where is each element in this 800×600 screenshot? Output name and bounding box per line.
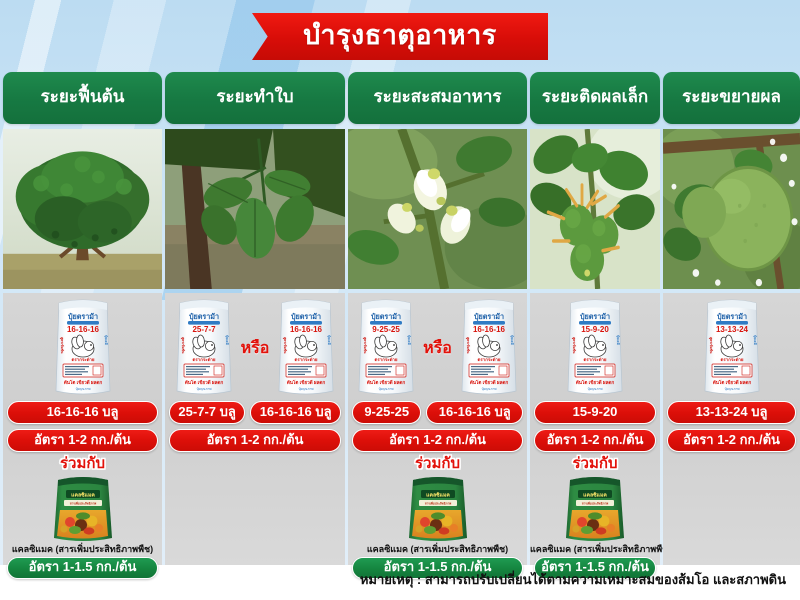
svg-text:ตรากระต่าย: ตรากระต่าย — [375, 357, 398, 362]
svg-text:ต้นโต เขียวดี ผลดก: ต้นโต เขียวดี ผลดก — [63, 379, 102, 385]
application-rate-label: อัตรา 1-2 กก./ต้น — [207, 433, 304, 448]
pomelo-tree-photo — [3, 129, 162, 289]
svg-text:ต้นโต เขียวดี ผลดก: ต้นโต เขียวดี ผลดก — [367, 379, 406, 385]
fertilizer-bags-row: ปุ๋ยตราม้า 25-7-7 ตรากระต่าย ต้นโต เขียว… — [165, 297, 345, 401]
formula-pill-label: 9-25-25 — [364, 405, 409, 420]
svg-text:16-16-16: 16-16-16 — [290, 325, 323, 334]
stage-column-3: ระยะสะสมอาหาร — [348, 0, 527, 600]
svg-text:สารเพิ่มประสิทธิภาพ: สารเพิ่มประสิทธิภาพ — [582, 500, 609, 505]
mature-pomelo-fruit-photo — [663, 129, 800, 289]
application-rate-bar: อัตรา 1-2 กก./ต้น — [534, 429, 656, 452]
formula-pill[interactable]: 16-16-16 บลู — [7, 401, 158, 424]
svg-text:ปุ๋ยตราม้า: ปุ๋ยตราม้า — [580, 312, 610, 321]
fertilizer-bags-row: ปุ๋ยตราม้า 13-13-24 ตรากระต่าย ต้นโต เขี… — [663, 297, 800, 401]
application-rate-bar: อัตรา 1-2 กก./ต้น — [169, 429, 341, 452]
stage-column-5: ระยะขยายผล — [663, 0, 800, 600]
fertilizer-bag-9-25-25: ปุ๋ยตราม้า 9-25-25 ตรากระต่าย ต้นโต เขีย… — [355, 297, 417, 397]
svg-text:แคลซิแมค: แคลซิแมค — [71, 491, 95, 498]
svg-text:25-7-7: 25-7-7 — [192, 325, 216, 334]
fertilizer-bags-row: ปุ๋ยตราม้า 16-16-16 ตรากระต่าย ต้นโต เขี… — [3, 297, 162, 401]
formula-pill[interactable]: 16-16-16 บลู — [426, 401, 523, 424]
svg-text:ตรากระต่าย: ตรากระต่าย — [584, 357, 607, 362]
application-rate-bar: อัตรา 1-2 กก./ต้น — [352, 429, 523, 452]
formula-pill-label: 16-16-16 บลู — [439, 405, 511, 420]
rate-row: อัตรา 1-2 กก./ต้น — [352, 429, 523, 452]
fertilizer-bag-13-13-24: ปุ๋ยตราม้า 13-13-24 ตรากระต่าย ต้นโต เขี… — [701, 297, 763, 397]
application-rate-bar: อัตรา 1-2 กก./ต้น — [667, 429, 796, 452]
calcimag-bag: แคลซิแมค สารเพิ่มประสิทธิภาพ — [348, 472, 527, 544]
formula-pill[interactable]: 16-16-16 บลู — [250, 401, 341, 424]
svg-text:15-9-20: 15-9-20 — [581, 325, 609, 334]
svg-text:แคลซิแมค: แคลซิแมค — [426, 491, 450, 498]
fertilizer-bag-16-16-16: ปุ๋ยตราม้า 16-16-16 ตรากระต่าย ต้นโต เขี… — [275, 297, 337, 397]
application-rate-bar: อัตรา 1-2 กก./ต้น — [7, 429, 158, 452]
application-rate-label: อัตรา 1-2 กก./ต้น — [683, 433, 780, 448]
stage-tab-label: ระยะขยายผล — [682, 88, 781, 108]
product-panel-4: ปุ๋ยตราม้า 15-9-20 ตรากระต่าย ต้นโต เขีย… — [530, 293, 660, 565]
formula-pill[interactable]: 9-25-25 — [352, 401, 421, 424]
formula-pill-label: 25-7-7 บลู — [178, 405, 235, 420]
pomelo-flowers-photo — [348, 129, 527, 289]
svg-text:ปุ๋ยตราม้า: ปุ๋ยตราม้า — [716, 312, 746, 321]
formula-pill-row: 13-13-24 บลู — [667, 401, 796, 424]
svg-text:ต้นโต เขียวดี ผลดก: ต้นโต เขียวดี ผลดก — [184, 379, 223, 385]
rate-row: อัตรา 1-2 กก./ต้น — [534, 429, 656, 452]
combo-product-name: แคลซิแมค (สารเพิ่มประสิทธิภาพพืช) — [530, 545, 660, 555]
stage-tab-label: ระยะสะสมอาหาร — [373, 88, 501, 108]
product-panel-3: ปุ๋ยตราม้า 9-25-25 ตรากระต่าย ต้นโต เขีย… — [348, 293, 527, 565]
stage-tab-label: ระยะทำใบ — [216, 88, 293, 108]
formula-pill-label: 16-16-16 บลู — [47, 405, 119, 420]
svg-text:ตรากระต่าย: ตรากระต่าย — [71, 357, 94, 362]
svg-text:แคลซิแมค: แคลซิแมค — [583, 491, 607, 498]
svg-text:ต้นโต เขียวดี ผลดก: ต้นโต เขียวดี ผลดก — [287, 379, 326, 385]
svg-text:ต้นโต เขียวดี ผลดก: ต้นโต เขียวดี ผลดก — [470, 379, 509, 385]
combo-product-name: แคลซิแมค (สารเพิ่มประสิทธิภาพพืช) — [3, 545, 162, 555]
combo-with-label: ร่วมกับ — [348, 456, 527, 471]
formula-pill-row: 16-16-16 บลู — [7, 401, 158, 424]
svg-text:ปุ๋ยตราม้า: ปุ๋ยตราม้า — [371, 312, 401, 321]
svg-text:ปุ๋ยตราม้า: ปุ๋ยตราม้า — [291, 312, 321, 321]
svg-text:9-25-25: 9-25-25 — [372, 325, 400, 334]
fertilizer-bag-16-16-16: ปุ๋ยตราม้า 16-16-16 ตรากระต่าย ต้นโต เขี… — [458, 297, 520, 397]
combo-product-block: ร่วมกับ แคลซิแมค สารเพิ่มประสิทธิภาพ — [348, 456, 527, 579]
formula-pill[interactable]: 25-7-7 บลู — [169, 401, 245, 424]
stage-tab-label: ระยะฟื้นต้น — [41, 88, 125, 108]
combo-product-block: ร่วมกับ แคลซิแมค สารเพิ่มประสิทธิภาพ — [3, 456, 162, 579]
stage-column-1: ระยะฟื้นต้น — [3, 0, 162, 600]
stage-tab-2[interactable]: ระยะทำใบ — [165, 72, 345, 124]
formula-pill-row: 15-9-20 — [534, 401, 656, 424]
stage-column-4: ระยะติดผลเล็ก — [530, 0, 660, 600]
product-panel-2: ปุ๋ยตราม้า 25-7-7 ตรากระต่าย ต้นโต เขียว… — [165, 293, 345, 565]
svg-text:16-16-16: 16-16-16 — [66, 325, 99, 334]
application-rate-label: อัตรา 1-2 กก./ต้น — [389, 433, 486, 448]
stage-tab-3[interactable]: ระยะสะสมอาหาร — [348, 72, 527, 124]
combo-with-label: ร่วมกับ — [530, 456, 660, 471]
or-separator: หรือ — [421, 341, 454, 357]
svg-text:16-16-16: 16-16-16 — [473, 325, 506, 334]
stage-column-2: ระยะทำใบ ปุ๋ยตราม้า 25-7-7 — [165, 0, 345, 600]
application-rate-label: อัตรา 1-2 กก./ต้น — [547, 433, 644, 448]
product-panel-1: ปุ๋ยตราม้า 16-16-16 ตรากระต่าย ต้นโต เขี… — [3, 293, 162, 565]
svg-text:ตรากระต่าย: ตรากระต่าย — [720, 357, 743, 362]
svg-text:ตรากระต่าย: ตรากระต่าย — [295, 357, 318, 362]
svg-text:ตรากระต่าย: ตรากระต่าย — [192, 357, 215, 362]
rate-row: อัตรา 1-2 กก./ต้น — [169, 429, 341, 452]
application-rate-label: อัตรา 1-2 กก./ต้น — [34, 433, 131, 448]
svg-text:ปุ๋ยตราม้า: ปุ๋ยตราม้า — [67, 312, 97, 321]
formula-pill[interactable]: 13-13-24 บลู — [667, 401, 796, 424]
stage-tab-1[interactable]: ระยะฟื้นต้น — [3, 72, 162, 124]
svg-text:13-13-24: 13-13-24 — [715, 325, 748, 334]
combo-product-name: แคลซิแมค (สารเพิ่มประสิทธิภาพพืช) — [348, 545, 527, 555]
svg-text:ปุ๋ยตราม้า: ปุ๋ยตราม้า — [189, 312, 219, 321]
fertilizer-bag-15-9-20: ปุ๋ยตราม้า 15-9-20 ตรากระต่าย ต้นโต เขีย… — [564, 297, 626, 397]
svg-text:ต้นโต เขียวดี ผลดก: ต้นโต เขียวดี ผลดก — [712, 379, 751, 385]
young-pomelo-fruit-photo — [530, 129, 660, 289]
fertilizer-bag-16-16-16: ปุ๋ยตราม้า 16-16-16 ตรากระต่าย ต้นโต เขี… — [52, 297, 114, 397]
fertilizer-bags-row: ปุ๋ยตราม้า 15-9-20 ตรากระต่าย ต้นโต เขีย… — [530, 297, 660, 401]
formula-pill-row: 25-7-7 บลู16-16-16 บลู — [169, 401, 341, 424]
stage-tab-4[interactable]: ระยะติดผลเล็ก — [530, 72, 660, 124]
svg-text:สารเพิ่มประสิทธิภาพ: สารเพิ่มประสิทธิภาพ — [424, 500, 451, 505]
formula-pill-label: 15-9-20 — [573, 405, 618, 420]
formula-pill-label: 16-16-16 บลู — [260, 405, 332, 420]
combo-product-block: ร่วมกับ แคลซิแมค สารเพิ่มประสิทธิภาพ — [530, 456, 660, 579]
rate-row: อัตรา 1-2 กก./ต้น — [667, 429, 796, 452]
formula-pill[interactable]: 15-9-20 — [534, 401, 656, 424]
formula-pill-row: 9-25-2516-16-16 บลู — [352, 401, 523, 424]
stage-tab-label: ระยะติดผลเล็ก — [542, 88, 648, 108]
stage-tab-5[interactable]: ระยะขยายผล — [663, 72, 800, 124]
svg-text:สารเพิ่มประสิทธิภาพ: สารเพิ่มประสิทธิภาพ — [69, 500, 96, 505]
svg-text:ตรากระต่าย: ตรากระต่าย — [477, 357, 500, 362]
calcimag-bag: แคลซิแมค สารเพิ่มประสิทธิภาพ — [3, 472, 162, 544]
product-panel-5: ปุ๋ยตราม้า 13-13-24 ตรากระต่าย ต้นโต เขี… — [663, 293, 800, 565]
or-separator: หรือ — [239, 341, 272, 357]
fertilizer-bags-row: ปุ๋ยตราม้า 9-25-25 ตรากระต่าย ต้นโต เขีย… — [348, 297, 527, 401]
formula-pill-label: 13-13-24 บลู — [696, 405, 768, 420]
svg-text:ปุ๋ยตราม้า: ปุ๋ยตราม้า — [474, 312, 504, 321]
fertilizer-bag-25-7-7: ปุ๋ยตราม้า 25-7-7 ตรากระต่าย ต้นโต เขียว… — [173, 297, 235, 397]
pomelo-leaves-photo — [165, 129, 345, 289]
calcimag-bag: แคลซิแมค สารเพิ่มประสิทธิภาพ — [530, 472, 660, 544]
combo-with-label: ร่วมกับ — [3, 456, 162, 471]
rate-row: อัตรา 1-2 กก./ต้น — [7, 429, 158, 452]
svg-text:ต้นโต เขียวดี ผลดก: ต้นโต เขียวดี ผลดก — [576, 379, 615, 385]
footer-note: หมายเหตุ : สามารถปรับเปลี่ยนได้ตามความเห… — [0, 573, 786, 586]
